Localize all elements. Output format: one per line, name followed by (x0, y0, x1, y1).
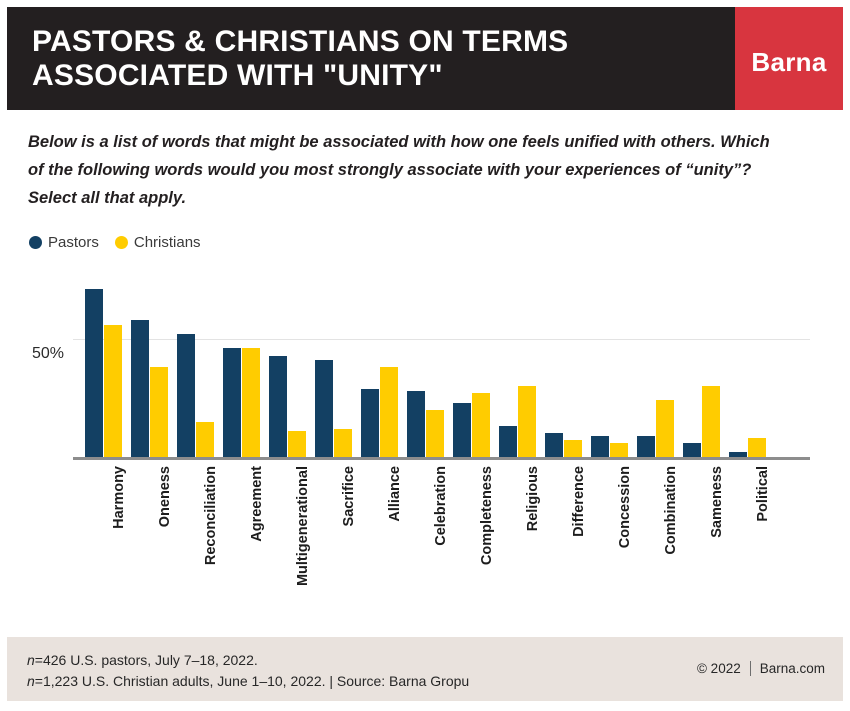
bar-group (453, 280, 491, 457)
x-axis-label: Harmony (111, 466, 127, 606)
bar-group (85, 280, 123, 457)
bar-christians (564, 440, 582, 457)
survey-question: Below is a list of words that might be a… (28, 128, 788, 212)
plot-area (85, 280, 810, 457)
infographic-page: PASTORS & CHRISTIANS ON TERMS ASSOCIATED… (0, 0, 850, 711)
x-axis-label: Religious (525, 466, 541, 606)
bar-group (499, 280, 537, 457)
x-axis-labels: HarmonyOnenessReconciliationAgreementMul… (85, 466, 810, 606)
bar-christians (518, 386, 536, 457)
x-axis-label: Completeness (479, 466, 495, 606)
bar-pastors (637, 436, 655, 457)
bar-group (545, 280, 583, 457)
x-axis-label: Combination (663, 466, 679, 606)
footer-credit: © 2022 Barna.com (697, 661, 825, 676)
header-band: PASTORS & CHRISTIANS ON TERMS ASSOCIATED… (7, 7, 843, 110)
bar-christians (196, 422, 214, 457)
bar-pastors (315, 360, 333, 457)
bar-christians (288, 431, 306, 457)
bar-pastors (453, 403, 471, 457)
x-axis-label: Oneness (157, 466, 173, 606)
bar-christians (334, 429, 352, 457)
bar-pastors (683, 443, 701, 457)
x-axis-label: Difference (571, 466, 587, 606)
bar-christians (748, 438, 766, 457)
footer-band: n=426 U.S. pastors, July 7–18, 2022. n=1… (7, 637, 843, 701)
bar-groups (85, 280, 810, 457)
bar-group (131, 280, 169, 457)
bar-pastors (407, 391, 425, 457)
n-prefix-2: n (27, 673, 35, 689)
bar-pastors (85, 289, 103, 457)
bar-pastors (499, 426, 517, 457)
bar-pastors (591, 436, 609, 457)
bar-christians (242, 348, 260, 457)
x-axis-line (73, 457, 810, 460)
credit-divider (750, 661, 751, 676)
bar-group (361, 280, 399, 457)
x-axis-label: Agreement (249, 466, 265, 606)
bar-group (407, 280, 445, 457)
bar-group (637, 280, 675, 457)
page-title: PASTORS & CHRISTIANS ON TERMS ASSOCIATED… (32, 25, 722, 93)
legend-swatch-pastors (29, 236, 42, 249)
bar-group (315, 280, 353, 457)
y-axis-tick-50: 50% (32, 345, 64, 363)
bar-chart: 50% HarmonyOnenessReconciliationAgreemen… (0, 280, 850, 610)
bar-christians (656, 400, 674, 457)
bar-group (729, 280, 767, 457)
brand-box: Barna (735, 7, 843, 110)
footer-note-line-2: n=1,223 U.S. Christian adults, June 1–10… (27, 671, 469, 692)
legend-label-christians: Christians (134, 234, 201, 251)
bar-group (223, 280, 261, 457)
footer-methodology: n=426 U.S. pastors, July 7–18, 2022. n=1… (27, 650, 469, 692)
bar-group (591, 280, 629, 457)
bar-pastors (729, 452, 747, 457)
brand-logo-text: Barna (735, 47, 843, 78)
bar-christians (380, 367, 398, 457)
legend-item-christians: Christians (115, 234, 201, 251)
x-axis-label: Sacrifice (341, 466, 357, 606)
bar-group (269, 280, 307, 457)
chart-legend: Pastors Christians (29, 234, 201, 251)
legend-swatch-christians (115, 236, 128, 249)
bar-group (683, 280, 721, 457)
x-axis-label: Reconciliation (203, 466, 219, 606)
website-text: Barna.com (760, 661, 825, 676)
bar-pastors (269, 356, 287, 457)
footer-note-text-1: =426 U.S. pastors, July 7–18, 2022. (35, 652, 258, 668)
bar-pastors (177, 334, 195, 457)
x-axis-label: Celebration (433, 466, 449, 606)
bar-christians (150, 367, 168, 457)
legend-item-pastors: Pastors (29, 234, 99, 251)
footer-note-text-2: =1,223 U.S. Christian adults, June 1–10,… (35, 673, 469, 689)
bar-christians (472, 393, 490, 457)
x-axis-label: Alliance (387, 466, 403, 606)
bar-pastors (545, 433, 563, 457)
bar-pastors (131, 320, 149, 457)
footer-note-line-1: n=426 U.S. pastors, July 7–18, 2022. (27, 650, 469, 671)
bar-group (177, 280, 215, 457)
bar-christians (610, 443, 628, 457)
x-axis-label: Concession (617, 466, 633, 606)
x-axis-label: Multigenerational (295, 466, 311, 606)
n-prefix-1: n (27, 652, 35, 668)
bar-pastors (223, 348, 241, 457)
legend-label-pastors: Pastors (48, 234, 99, 251)
bar-pastors (361, 389, 379, 457)
bar-christians (426, 410, 444, 457)
bar-christians (104, 325, 122, 457)
copyright-text: © 2022 (697, 661, 741, 676)
x-axis-label: Sameness (709, 466, 725, 606)
bar-christians (702, 386, 720, 457)
x-axis-label: Political (755, 466, 771, 606)
